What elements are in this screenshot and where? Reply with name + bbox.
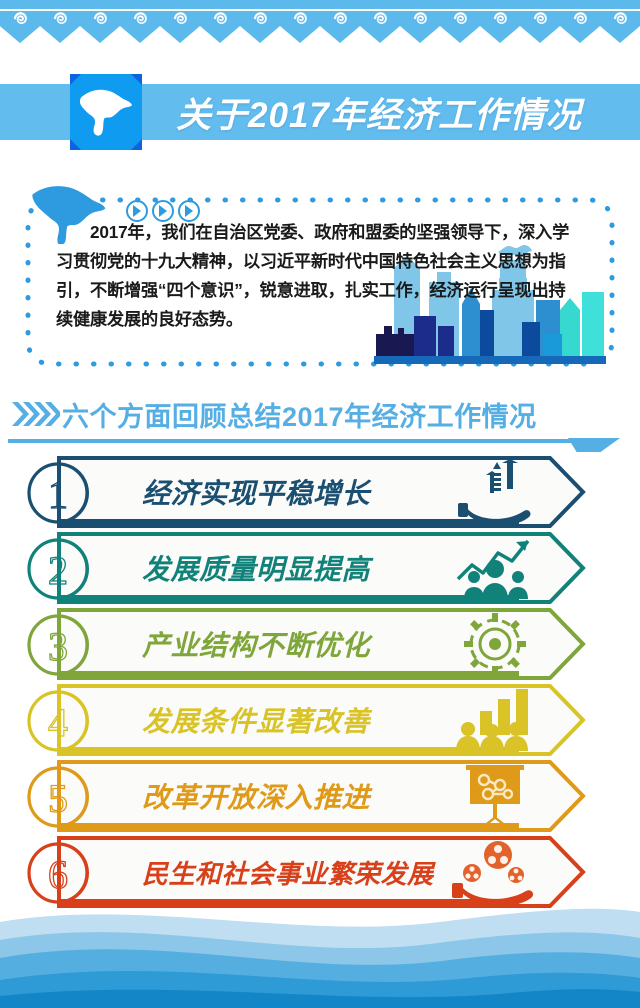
title-badge (70, 74, 142, 150)
intro-card: 2017年，我们在自治区党委、政府和盟委的坚强领导下，深入学习贯彻党的十九大精神… (24, 196, 616, 368)
item-label: 经济实现平稳增长 (142, 455, 370, 529)
item-number-badge: 1 (24, 458, 98, 528)
top-accent-bar (0, 0, 640, 9)
page-title: 关于2017年经济工作情况 (176, 84, 582, 140)
section-title: 六个方面回顾总结2017年经济工作情况 (62, 392, 537, 436)
presentation-board-icon (450, 763, 540, 829)
people-growth-chart-icon (450, 535, 540, 601)
double-chevron-right-icon (12, 398, 60, 430)
item-number-badge: 5 (24, 762, 98, 832)
item-label: 改革开放深入推进 (142, 759, 370, 833)
item-number-badge: 2 (24, 534, 98, 604)
bar-chart-people-icon (450, 687, 540, 753)
item-label: 发展质量明显提高 (142, 531, 370, 605)
gear-target-icon (450, 611, 540, 677)
item-number-badge: 4 (24, 686, 98, 756)
item-number: 2 (48, 548, 68, 593)
list-item[interactable]: 4 发展条件显著改善 (0, 683, 640, 761)
blue-wave-decoration (0, 888, 640, 1008)
key-points-list: 1 经济实现平稳增长 (0, 455, 640, 925)
item-label: 发展条件显著改善 (142, 683, 370, 757)
infographic-page: 关于2017年经济工作情况 (0, 0, 640, 1008)
item-number: 4 (48, 700, 68, 745)
list-item[interactable]: 1 经济实现平稳增长 (0, 455, 640, 533)
list-item[interactable]: 3 产业结构不断优化 (0, 607, 640, 685)
region-map-icon (77, 83, 135, 141)
item-label: 产业结构不断优化 (142, 607, 370, 681)
item-number: 5 (48, 776, 68, 821)
section-underline-arrow (8, 438, 640, 452)
item-number: 1 (48, 472, 68, 517)
item-number-badge: 3 (24, 610, 98, 680)
mongolian-cloud-border-icon (0, 11, 640, 56)
hand-with-arrows-up-icon (450, 459, 540, 525)
section-heading: 六个方面回顾总结2017年经济工作情况 (0, 392, 640, 448)
list-item[interactable]: 5 改革开放深入推进 (0, 759, 640, 837)
list-item[interactable]: 2 发展质量明显提高 (0, 531, 640, 609)
item-number: 3 (48, 624, 68, 669)
intro-paragraph: 2017年，我们在自治区党委、政府和盟委的坚强领导下，深入学习贯彻党的十九大精神… (56, 218, 572, 334)
